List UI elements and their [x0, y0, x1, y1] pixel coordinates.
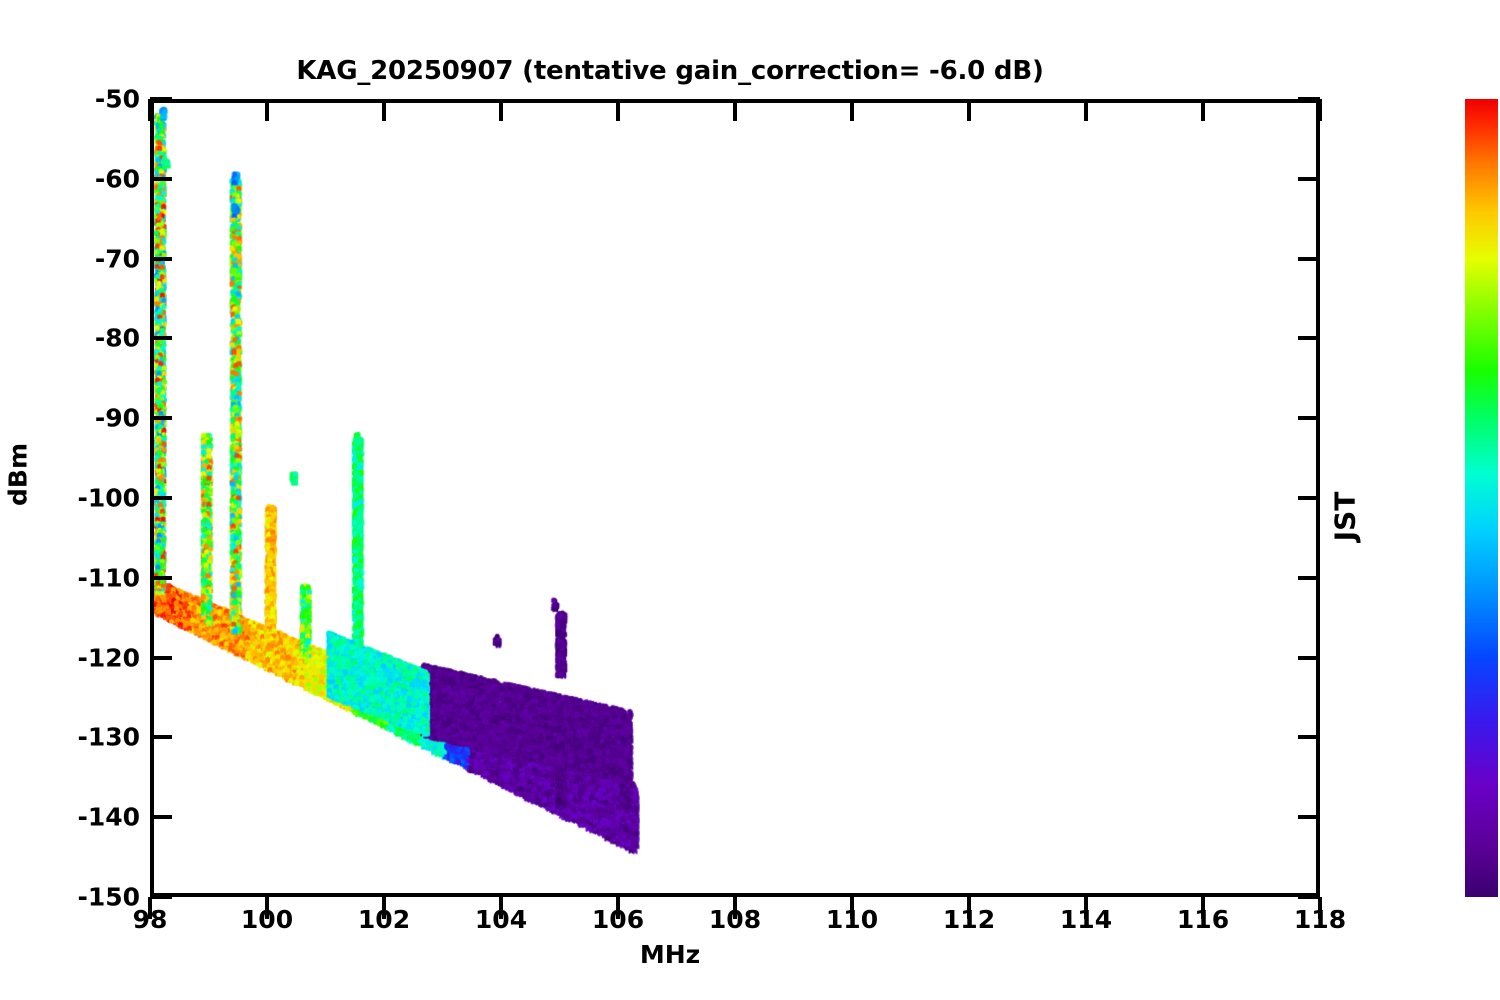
x-tick-mark — [382, 99, 386, 121]
x-tick-mark — [1201, 99, 1205, 121]
x-tick-mark — [967, 99, 971, 121]
y-tick-label: -70 — [30, 244, 140, 273]
y-tick-mark — [1298, 336, 1320, 340]
x-tick-mark — [733, 897, 737, 919]
x-tick-mark — [1084, 99, 1088, 121]
y-tick-mark — [1298, 416, 1320, 420]
x-tick-mark — [499, 99, 503, 121]
x-tick-mark — [382, 897, 386, 919]
y-tick-label: -140 — [30, 803, 140, 832]
y-tick-label: -50 — [30, 85, 140, 114]
y-tick-label: -90 — [30, 404, 140, 433]
y-tick-mark — [1298, 177, 1320, 181]
x-tick-mark — [1318, 99, 1322, 121]
y-tick-label: -150 — [30, 883, 140, 912]
y-axis-label: dBm — [4, 443, 33, 506]
y-tick-mark — [1298, 656, 1320, 660]
colorbar — [1465, 99, 1498, 897]
y-tick-label: -80 — [30, 324, 140, 353]
x-tick-mark — [850, 99, 854, 121]
y-tick-mark — [1298, 496, 1320, 500]
y-tick-mark — [1298, 97, 1320, 101]
y-tick-mark — [150, 257, 172, 261]
y-tick-mark — [1298, 257, 1320, 261]
y-tick-mark — [1298, 576, 1320, 580]
colorbar-label: JST — [1329, 492, 1362, 542]
y-tick-mark — [150, 496, 172, 500]
x-tick-mark — [148, 897, 152, 919]
x-tick-mark — [1084, 897, 1088, 919]
y-tick-mark — [150, 336, 172, 340]
x-tick-mark — [616, 99, 620, 121]
y-tick-label: -60 — [30, 164, 140, 193]
x-tick-mark — [148, 99, 152, 121]
x-tick-mark — [1318, 897, 1322, 919]
x-tick-mark — [616, 897, 620, 919]
y-tick-mark — [1298, 735, 1320, 739]
y-tick-mark — [150, 735, 172, 739]
x-tick-mark — [1201, 897, 1205, 919]
plot-area — [150, 99, 1320, 897]
x-tick-mark — [265, 99, 269, 121]
y-tick-mark — [1298, 815, 1320, 819]
y-tick-mark — [1298, 895, 1320, 899]
x-tick-mark — [499, 897, 503, 919]
y-tick-label: -100 — [30, 484, 140, 513]
y-tick-label: -110 — [30, 563, 140, 592]
x-tick-mark — [265, 897, 269, 919]
page-title: KAG_20250907 (tentative gain_correction=… — [0, 56, 1340, 86]
x-tick-mark — [850, 897, 854, 919]
y-tick-label: -120 — [30, 643, 140, 672]
y-tick-mark — [150, 416, 172, 420]
x-tick-mark — [733, 99, 737, 121]
y-tick-mark — [150, 97, 172, 101]
y-tick-label: -130 — [30, 723, 140, 752]
y-tick-mark — [150, 895, 172, 899]
y-tick-mark — [150, 576, 172, 580]
y-tick-mark — [150, 656, 172, 660]
scatter-data-canvas — [154, 103, 1316, 893]
x-tick-mark — [967, 897, 971, 919]
x-axis-label: MHz — [0, 940, 1340, 969]
spectrum-plot-page: KAG_20250907 (tentative gain_correction=… — [0, 0, 1500, 1000]
y-tick-mark — [150, 177, 172, 181]
colorbar-gradient — [1465, 99, 1498, 897]
y-tick-mark — [150, 815, 172, 819]
